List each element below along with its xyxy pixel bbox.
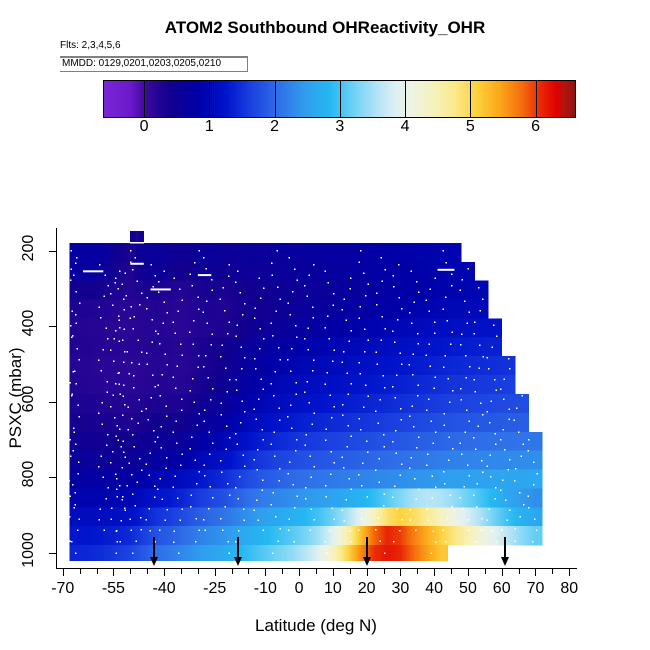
x-tick--70 — [63, 569, 64, 576]
x-tick-label--40: -40 — [152, 580, 175, 598]
x-tick-20 — [367, 569, 368, 576]
x-tick-30 — [400, 569, 401, 576]
colorbar-division-4 — [405, 80, 406, 118]
x-tick--65 — [80, 569, 81, 574]
x-tick-55 — [485, 569, 486, 574]
x-tick-70 — [535, 569, 536, 576]
colorbar-tick-3: 3 — [335, 118, 344, 136]
x-tick-label--70: -70 — [51, 580, 74, 598]
y-tick-label-600: 600 — [20, 380, 38, 418]
y-tick-label-400: 400 — [20, 304, 38, 342]
colorbar-tick-5: 5 — [466, 118, 475, 136]
x-tick--45 — [147, 569, 148, 574]
x-tick-45 — [451, 569, 452, 574]
x-tick-5 — [316, 569, 317, 574]
x-tick--60 — [97, 569, 98, 574]
y-tick-400 — [49, 326, 56, 327]
x-tick-80 — [569, 569, 570, 576]
x-tick-label-80: 80 — [560, 580, 578, 598]
y-tick-label-200: 200 — [20, 229, 38, 267]
x-tick--10 — [265, 569, 266, 576]
x-tick-label-60: 60 — [493, 580, 511, 598]
colorbar-division-1 — [209, 80, 210, 118]
y-tick-1000 — [49, 553, 56, 554]
colorbar-tick-4: 4 — [401, 118, 410, 136]
x-tick-25 — [384, 569, 385, 574]
colorbar-division-5 — [470, 80, 471, 118]
x-tick-label-20: 20 — [358, 580, 376, 598]
colorbar-division-2 — [275, 80, 276, 118]
x-tick-label--25: -25 — [203, 580, 226, 598]
page-title: ATOM2 Southbound OHReactivity_OHR — [0, 18, 650, 38]
x-tick-label-10: 10 — [324, 580, 342, 598]
colorbar-tick-1: 1 — [205, 118, 214, 136]
x-tick--25 — [215, 569, 216, 576]
x-tick--40 — [164, 569, 165, 576]
colorbar — [103, 80, 576, 118]
colorbar-division-3 — [340, 80, 341, 118]
colorbar-tick-labels: 0123456 — [0, 118, 650, 142]
heatmap-plot: PSXC (mbar) Latitude (deg N) 20040060080… — [56, 228, 576, 568]
x-tick--20 — [232, 569, 233, 574]
colorbar-tick-6: 6 — [531, 118, 540, 136]
x-tick-60 — [502, 569, 503, 576]
flights-label: Flts: 2,3,4,5,6 — [60, 40, 121, 51]
colorbar-tick-0: 0 — [140, 118, 149, 136]
x-tick-0 — [299, 569, 300, 576]
y-tick-label-800: 800 — [20, 455, 38, 493]
heatmap-canvas — [56, 228, 576, 568]
x-tick--50 — [130, 569, 131, 574]
x-tick--35 — [181, 569, 182, 574]
y-tick-800 — [49, 477, 56, 478]
x-tick--5 — [282, 569, 283, 574]
y-tick-200 — [49, 251, 56, 252]
x-tick-10 — [333, 569, 334, 576]
colorbar-division-0 — [144, 80, 145, 118]
x-tick-label-30: 30 — [392, 580, 410, 598]
y-tick-label-1000: 1000 — [20, 531, 38, 569]
x-tick-label--10: -10 — [254, 580, 277, 598]
y-tick-600 — [49, 402, 56, 403]
x-tick-65 — [519, 569, 520, 574]
x-tick--55 — [113, 569, 114, 576]
x-tick-15 — [350, 569, 351, 574]
dates-label: MMDD: 0129,0201,0203,0205,0210 — [62, 58, 221, 69]
colorbar-tick-2: 2 — [270, 118, 279, 136]
x-tick--15 — [248, 569, 249, 574]
colorbar-division-6 — [536, 80, 537, 118]
x-tick-label-70: 70 — [527, 580, 545, 598]
x-tick-label-40: 40 — [425, 580, 443, 598]
x-tick-label--55: -55 — [102, 580, 125, 598]
x-tick--30 — [198, 569, 199, 574]
x-axis-title: Latitude (deg N) — [255, 616, 377, 636]
x-tick-label-50: 50 — [459, 580, 477, 598]
x-tick-50 — [468, 569, 469, 576]
x-tick-40 — [434, 569, 435, 576]
x-tick-label-0: 0 — [295, 580, 304, 598]
x-tick-75 — [552, 569, 553, 574]
x-tick-35 — [417, 569, 418, 574]
